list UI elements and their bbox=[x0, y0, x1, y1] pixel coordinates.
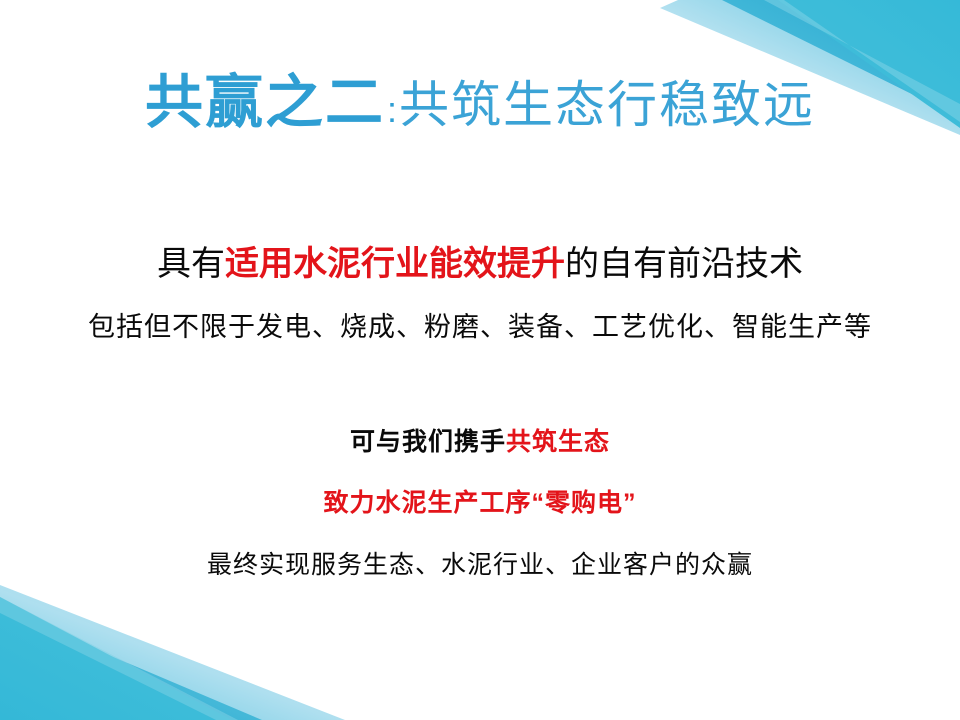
slide-title: 共赢之二:共筑生态行稳致远 bbox=[0, 55, 960, 139]
content-line-technology-highlight: 适用水泥行业能效提升 bbox=[225, 245, 565, 283]
content-line-partnership: 可与我们携手共筑生态 bbox=[0, 422, 960, 458]
content-line-win-win: 最终实现服务生态、水泥行业、企业客户的众赢 bbox=[0, 545, 960, 581]
slide-title-rest: 共筑生态行稳致远 bbox=[399, 77, 815, 133]
content-line-zero-purchase-text: 致力水泥生产工序“零购电” bbox=[323, 489, 636, 517]
content-line-partnership-prefix: 可与我们携手 bbox=[350, 428, 506, 456]
content-line-partnership-highlight: 共筑生态 bbox=[506, 428, 610, 456]
slide-title-separator: : bbox=[385, 89, 399, 130]
slide-title-lead: 共赢之二 bbox=[145, 70, 385, 135]
diagonal-ribbon-bottom-left-icon bbox=[0, 575, 345, 720]
content-line-scope: 包括但不限于发电、烧成、粉磨、装备、工艺优化、智能生产等 bbox=[0, 305, 960, 344]
content-line-technology-suffix: 的自有前沿技术 bbox=[565, 245, 803, 283]
content-line-technology: 具有适用水泥行业能效提升的自有前沿技术 bbox=[0, 236, 960, 285]
content-line-technology-prefix: 具有 bbox=[157, 245, 225, 283]
presentation-slide: 共赢之二:共筑生态行稳致远 具有适用水泥行业能效提升的自有前沿技术 包括但不限于… bbox=[0, 0, 960, 720]
content-line-zero-purchase: 致力水泥生产工序“零购电” bbox=[0, 483, 960, 519]
